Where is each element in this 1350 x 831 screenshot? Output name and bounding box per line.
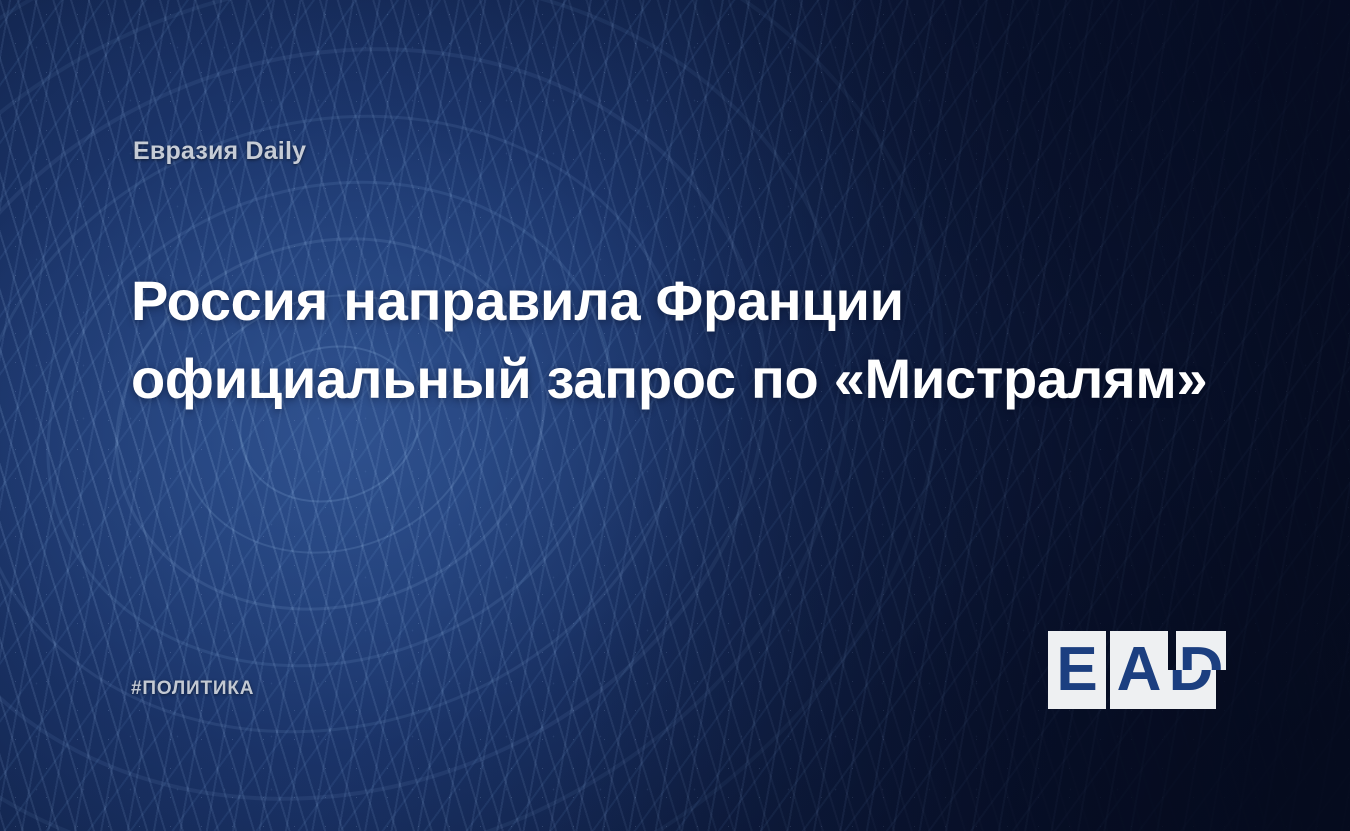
headline-line-2: официальный запрос по «Мистралям»	[131, 340, 1211, 418]
card-content: Евразия Daily Россия направила Франции о…	[0, 0, 1350, 831]
eadaily-logo[interactable]: E A D D	[1048, 631, 1226, 709]
logo-tile-a: A	[1110, 631, 1168, 709]
logo-letter-d-upper: D	[1176, 631, 1226, 670]
page-title: Россия направила Франции официальный зап…	[131, 262, 1211, 418]
category-hashtag[interactable]: #ПОЛИТИКА	[131, 678, 254, 700]
logo-letter-d-lower: D	[1166, 670, 1216, 709]
brand-wordmark: Евразия Daily	[133, 137, 306, 166]
news-card: Евразия Daily Россия направила Франции о…	[0, 0, 1350, 831]
logo-tile-d-lower: D	[1166, 670, 1216, 709]
logo-letter-a: A	[1110, 631, 1168, 709]
logo-tile-d-upper: D	[1176, 631, 1226, 670]
headline-line-1: Россия направила Франции	[131, 262, 1211, 340]
logo-tile-e: E	[1048, 631, 1106, 709]
logo-letter-e: E	[1048, 631, 1106, 709]
